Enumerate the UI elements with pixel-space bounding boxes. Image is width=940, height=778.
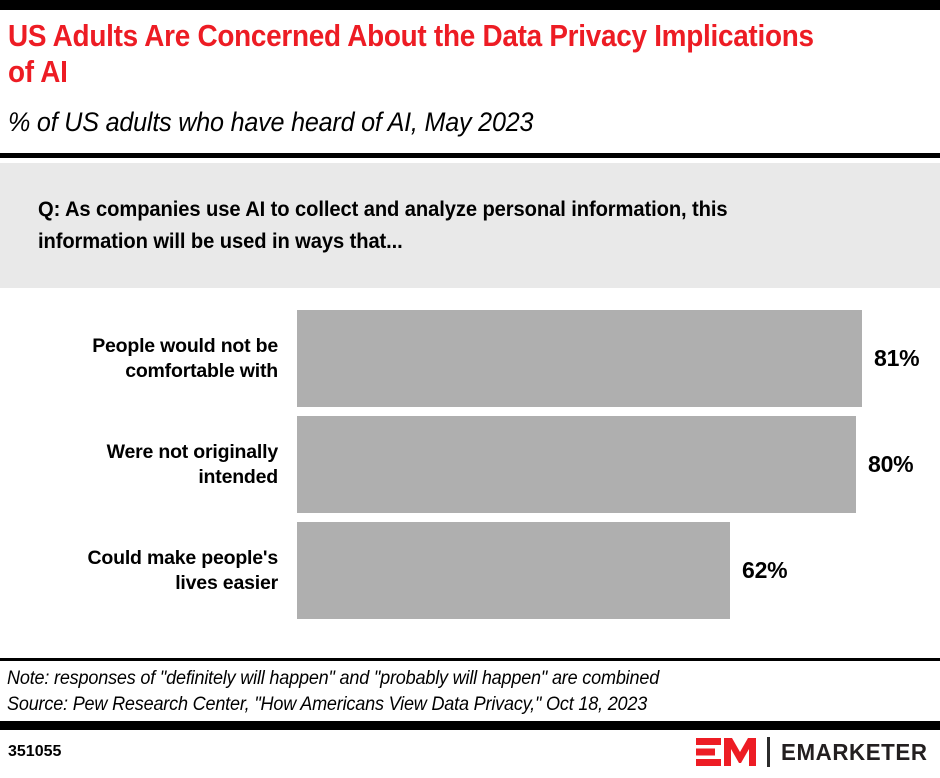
bar-category-label: Were not originallyintended — [10, 416, 278, 513]
note-text: Note: responses of "definitely will happ… — [7, 666, 886, 692]
footer-rule — [0, 721, 940, 730]
bar-category-label: Could make people'slives easier — [10, 522, 278, 619]
bar-category-label-line2: intended — [198, 465, 278, 490]
title-divider-rule — [0, 153, 940, 158]
em-logo-icon — [696, 737, 758, 767]
chart-id: 351055 — [8, 743, 61, 761]
source-text: Source: Pew Research Center, "How Americ… — [7, 692, 886, 718]
bar-row: Could make people'slives easier 62% — [0, 522, 940, 619]
bar-category-label-line2: lives easier — [175, 571, 278, 596]
brand-name: EMARKETER — [781, 739, 928, 766]
bar-category-label-line1: Could make people's — [88, 546, 278, 571]
bar-row: People would not becomfortable with 81% — [0, 310, 940, 407]
bar-row: Were not originallyintended 80% — [0, 416, 940, 513]
bar-category-label-line2: comfortable with — [125, 359, 278, 384]
page-title: US Adults Are Concerned About the Data P… — [8, 18, 827, 90]
top-rule — [0, 0, 940, 10]
bar-category-label: People would not becomfortable with — [10, 310, 278, 407]
bar-category-label-line1: Were not originally — [107, 440, 278, 465]
bar-value-label: 62% — [742, 522, 787, 619]
bar-could-make-peoples-lives-easier[interactable] — [297, 522, 730, 619]
brand-divider — [767, 737, 770, 767]
bar-track: 81% — [297, 310, 940, 407]
bar-value-label: 81% — [874, 310, 919, 407]
bar-people-would-not-be-comfortable-with[interactable] — [297, 310, 862, 407]
bar-were-not-originally-intended[interactable] — [297, 416, 856, 513]
question-text: Q: As companies use AI to collect and an… — [38, 194, 796, 258]
bar-chart: People would not becomfortable with 81% … — [0, 288, 940, 646]
page-subtitle: % of US adults who have heard of AI, May… — [8, 107, 864, 138]
question-band: Q: As companies use AI to collect and an… — [0, 163, 940, 288]
note-divider-rule — [0, 658, 940, 661]
chart-figure: US Adults Are Concerned About the Data P… — [0, 0, 940, 778]
bar-category-label-line1: People would not be — [92, 334, 278, 359]
brand-lockup: EMARKETER — [696, 736, 932, 768]
footnotes: Note: responses of "definitely will happ… — [7, 666, 886, 718]
bar-track: 62% — [297, 522, 940, 619]
bar-track: 80% — [297, 416, 940, 513]
bar-value-label: 80% — [868, 416, 913, 513]
